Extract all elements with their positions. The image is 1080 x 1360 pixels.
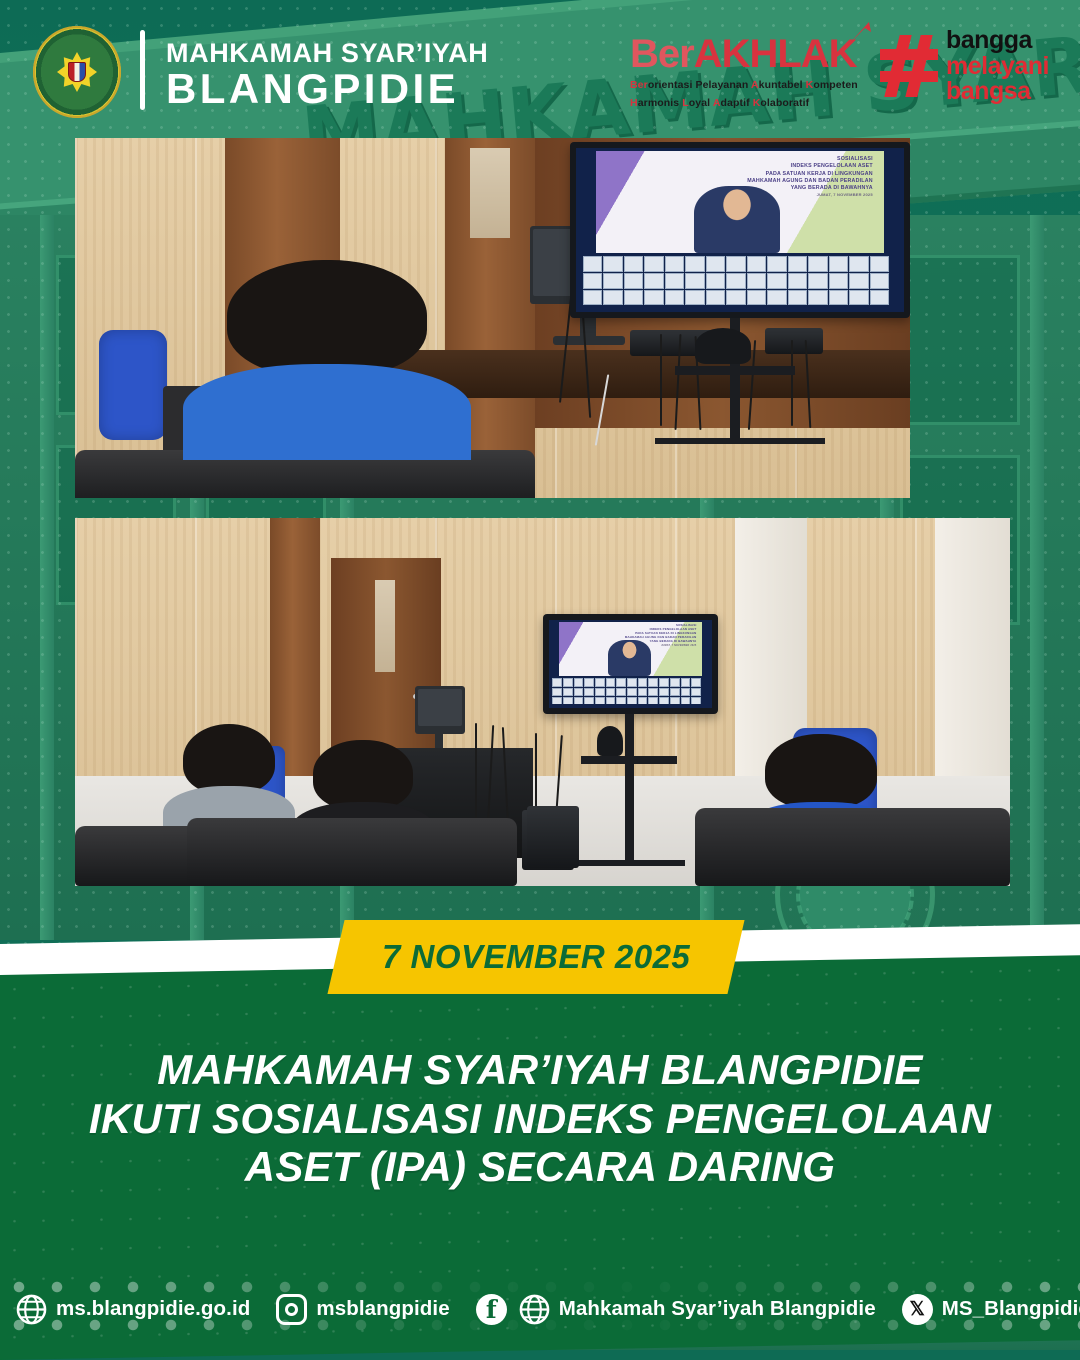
page-title-line1: MAHKAMAH SYAR’IYAH BLANGPIDIE	[0, 1046, 1080, 1095]
court-seal-icon	[33, 26, 121, 118]
facebook-icon: f	[476, 1294, 507, 1325]
bangga-line3: bangsa	[946, 79, 1049, 105]
footer-x-twitter[interactable]: 𝕏 MS_Blangpidie	[902, 1294, 1080, 1325]
berakhlak-suffix: AKHLAK	[694, 32, 857, 76]
bangga-line1: bangga	[946, 28, 1049, 54]
globe-icon	[519, 1294, 550, 1325]
x-twitter-icon: 𝕏	[902, 1294, 933, 1325]
page-title: MAHKAMAH SYAR’IYAH BLANGPIDIE IKUTI SOSI…	[0, 1046, 1080, 1192]
berakhlak-tagline-line1: Berorientasi Pelayanan Akuntabel Kompete…	[630, 79, 850, 92]
bangga-melayani-bangsa-logo: bangga melayani bangsa	[880, 28, 1049, 105]
berakhlak-tagline-line2: Harmonis Loyal Adaptif Kolaboratif	[630, 97, 850, 110]
berakhlak-wordmark: BerAKHLAK	[630, 34, 857, 74]
berakhlak-prefix: Ber	[630, 32, 694, 76]
institution-name-line2: BLANGPIDIE	[166, 68, 459, 110]
swoosh-icon	[845, 18, 875, 48]
date-badge-label: 7 NOVEMBER 2025	[382, 938, 690, 976]
date-badge: 7 NOVEMBER 2025	[327, 920, 744, 994]
photo-participant-watching-monitor: SOSIALISASIINDEKS PENGELOLAAN ASETPADA S…	[75, 138, 910, 498]
page-title-line3: ASET (IPA) SECARA DARING	[0, 1143, 1080, 1192]
footer-website-label: ms.blangpidie.go.id	[56, 1297, 250, 1321]
footer-social-bar: ms.blangpidie.go.id msblangpidie f Mahka…	[0, 1268, 1080, 1350]
berakhlak-logo: BerAKHLAK Berorientasi Pelayanan Akuntab…	[630, 34, 850, 111]
footer-website[interactable]: ms.blangpidie.go.id	[16, 1294, 250, 1325]
globe-icon	[16, 1294, 47, 1325]
footer-page-name-label: Mahkamah Syar’iyah Blangpidie	[559, 1297, 876, 1321]
footer-x-twitter-label: MS_Blangpidie	[942, 1297, 1080, 1321]
footer-facebook[interactable]: f	[476, 1294, 507, 1325]
instagram-icon	[276, 1294, 307, 1325]
bangga-line2: melayani	[946, 54, 1049, 80]
header-divider	[140, 30, 145, 110]
page-title-line2: IKUTI SOSIALISASI INDEKS PENGELOLAAN	[0, 1095, 1080, 1144]
footer-instagram[interactable]: msblangpidie	[276, 1294, 449, 1325]
photo-room-wide-shot: SOSIALISASIINDEKS PENGELOLAAN ASETPADA S…	[75, 518, 1010, 886]
hashtag-icon	[880, 35, 938, 97]
footer-page-name[interactable]: Mahkamah Syar’iyah Blangpidie	[519, 1294, 876, 1325]
page-header: MAHKAMAH SYAR’IYAH BLANGPIDIE BerAKHLAK …	[0, 0, 1080, 140]
footer-instagram-label: msblangpidie	[316, 1297, 449, 1321]
